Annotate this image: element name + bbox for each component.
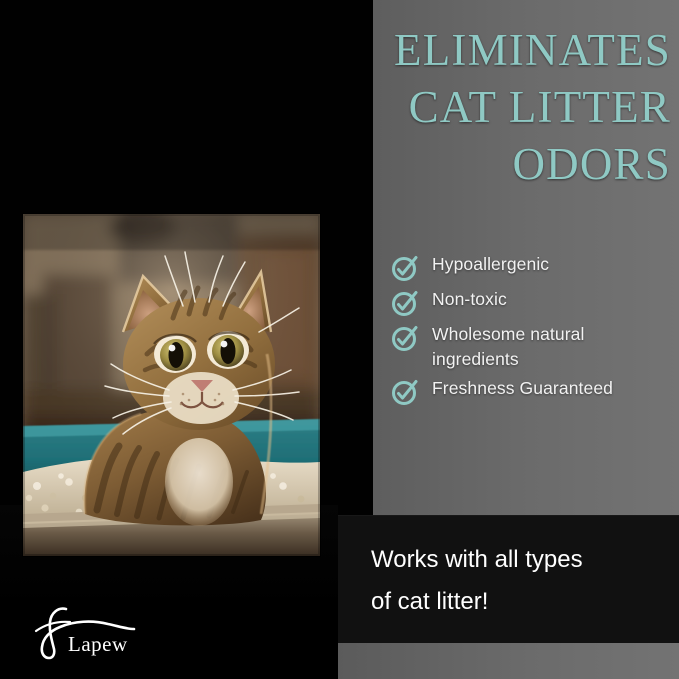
feature-label: Freshness Guaranteed	[432, 376, 613, 401]
headline-line-2: CAT LITTER	[251, 79, 671, 136]
callout-line-2: of cat litter!	[371, 581, 661, 623]
headline: ELIMINATES CAT LITTER ODORS	[251, 22, 671, 193]
brand-logo-word: Lapew	[68, 632, 128, 657]
brand-logo: Lapew	[24, 603, 154, 663]
callout-text: Works with all types of cat litter!	[371, 539, 661, 623]
feature-label: Wholesome natural ingredients	[432, 322, 675, 372]
headline-line-1: ELIMINATES	[251, 22, 671, 79]
kitten-in-litter-box-photo	[23, 214, 320, 556]
feature-label: Non-toxic	[432, 287, 507, 312]
product-poster: ELIMINATES CAT LITTER ODORS	[0, 0, 679, 679]
callout-line-1: Works with all types	[371, 539, 661, 581]
list-item: Wholesome natural ingredients	[390, 322, 675, 372]
feature-label: Hypoallergenic	[432, 252, 549, 277]
list-item: Hypoallergenic	[390, 252, 675, 283]
check-circle-icon	[390, 253, 420, 283]
callout-box: Works with all types of cat litter!	[338, 515, 679, 643]
list-item: Non-toxic	[390, 287, 675, 318]
check-circle-icon	[390, 323, 420, 353]
list-item: Freshness Guaranteed	[390, 376, 675, 407]
check-circle-icon	[390, 377, 420, 407]
check-circle-icon	[390, 288, 420, 318]
feature-list: Hypoallergenic Non-toxic Wholesome natur…	[390, 252, 675, 411]
headline-line-3: ODORS	[251, 136, 671, 193]
